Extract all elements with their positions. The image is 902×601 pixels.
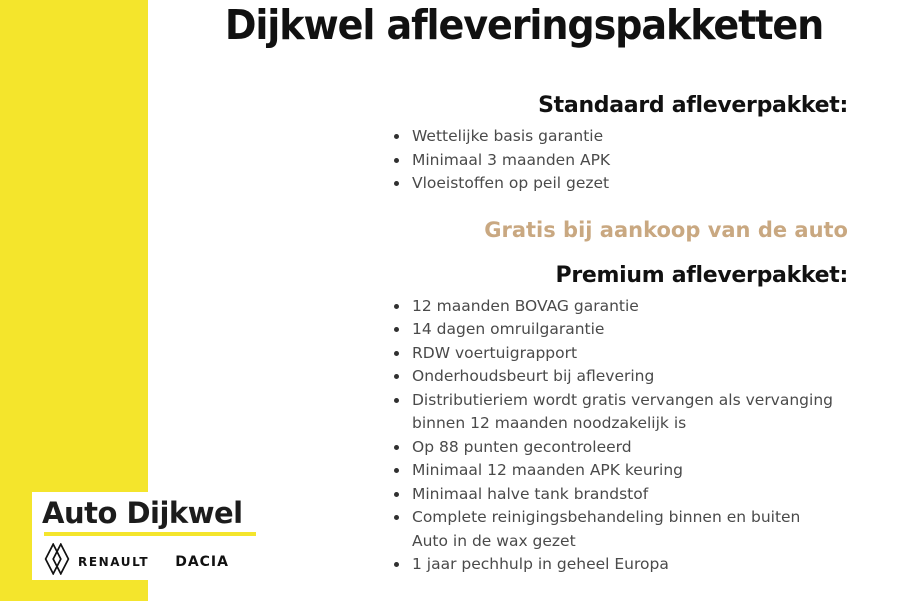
page-title: Dijkwel afleveringspakketten <box>191 4 857 47</box>
list-item-label: Minimaal halve tank brandstof <box>412 483 882 507</box>
dealer-logo-card: Auto Dijkwel RENAULT DACIA <box>32 492 268 580</box>
bullet-icon <box>394 134 399 139</box>
list-item-label: Wettelijke basis garantie <box>412 125 882 149</box>
list-item: 1 jaar pechhulp in geheel Europa <box>166 553 882 577</box>
list-item: 12 maanden BOVAG garantie <box>166 295 882 319</box>
list-item-label: Distributieriem wordt gratis vervangen a… <box>412 389 882 436</box>
list-item-label: 1 jaar pechhulp in geheel Europa <box>412 553 882 577</box>
list-item: Complete reinigingsbehandeling binnen en… <box>166 506 882 553</box>
list-item-label: 12 maanden BOVAG garantie <box>412 295 882 319</box>
list-item: Minimaal 3 maanden APK <box>166 149 882 173</box>
renault-brand: RENAULT <box>44 543 149 580</box>
list-item-label: Minimaal 3 maanden APK <box>412 149 882 173</box>
list-item: Op 88 punten gecontroleerd <box>166 436 882 460</box>
list-item-label: Op 88 punten gecontroleerd <box>412 436 882 460</box>
bullet-icon <box>394 398 399 403</box>
list-item-label: Vloeistoffen op peil gezet <box>412 172 882 196</box>
list-item: Minimaal 12 maanden APK keuring <box>166 459 882 483</box>
dacia-wordmark: DACIA <box>175 554 229 570</box>
bullet-icon <box>394 562 399 567</box>
standard-package-promo: Gratis bij aankoop van de auto <box>166 218 882 242</box>
bullet-icon <box>394 327 399 332</box>
list-item-label: Onderhoudsbeurt bij aflevering <box>412 365 882 389</box>
renault-diamond-icon <box>44 543 70 580</box>
content-column: Dijkwel afleveringspakketten Standaard a… <box>166 0 882 601</box>
brand-row: RENAULT DACIA <box>32 536 268 580</box>
bullet-icon <box>394 515 399 520</box>
bullet-icon <box>394 468 399 473</box>
list-item-label: Minimaal 12 maanden APK keuring <box>412 459 882 483</box>
list-item: 14 dagen omruilgarantie <box>166 318 882 342</box>
list-item-label: Complete reinigingsbehandeling binnen en… <box>412 506 882 553</box>
bullet-icon <box>394 351 399 356</box>
list-item-label: RDW voertuigrapport <box>412 342 882 366</box>
bullet-icon <box>394 445 399 450</box>
dacia-brand: DACIA <box>175 553 229 571</box>
standard-package-list: Wettelijke basis garantie Minimaal 3 maa… <box>166 125 882 196</box>
list-item: Minimaal halve tank brandstof <box>166 483 882 507</box>
list-item-label: 14 dagen omruilgarantie <box>412 318 882 342</box>
list-item: Distributieriem wordt gratis vervangen a… <box>166 389 882 436</box>
bullet-icon <box>394 492 399 497</box>
delivery-packages-poster: Dijkwel afleveringspakketten Standaard a… <box>0 0 902 601</box>
premium-package-list: 12 maanden BOVAG garantie 14 dagen omrui… <box>166 295 882 577</box>
bullet-icon <box>394 158 399 163</box>
standard-package-heading: Standaard afleverpakket: <box>166 94 882 118</box>
premium-package-heading: Premium afleverpakket: <box>166 264 882 288</box>
dealer-wordmark: Auto Dijkwel <box>32 492 268 528</box>
list-item: RDW voertuigrapport <box>166 342 882 366</box>
renault-wordmark: RENAULT <box>78 555 149 569</box>
list-item: Vloeistoffen op peil gezet <box>166 172 882 196</box>
list-item: Onderhoudsbeurt bij aflevering <box>166 365 882 389</box>
list-item: Wettelijke basis garantie <box>166 125 882 149</box>
bullet-icon <box>394 374 399 379</box>
bullet-icon <box>394 181 399 186</box>
bullet-icon <box>394 304 399 309</box>
